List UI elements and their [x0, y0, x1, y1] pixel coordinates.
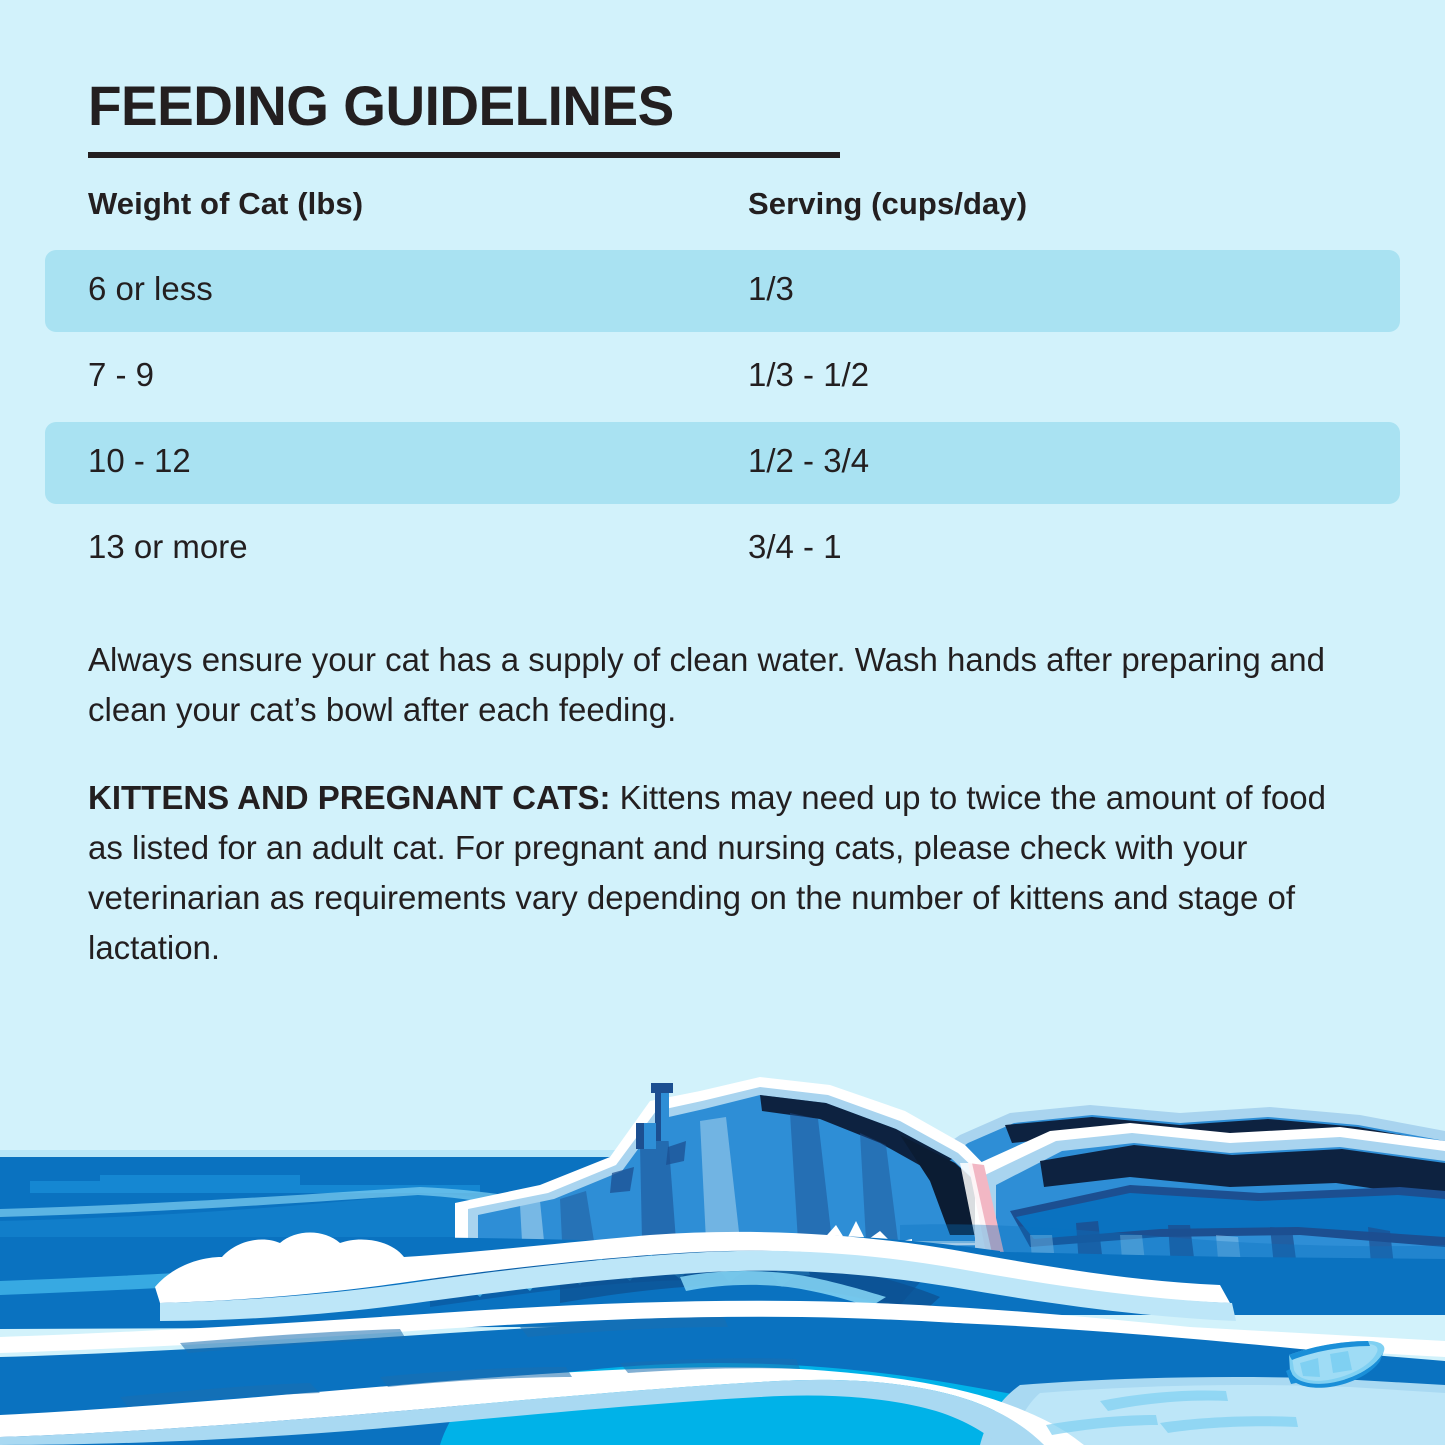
cell-serving: 3/4 - 1 [748, 528, 842, 566]
cell-weight: 6 or less [88, 270, 213, 308]
column-header-serving: Serving (cups/day) [748, 186, 1027, 222]
note-kittens-pregnant: KITTENS AND PREGNANT CATS: Kittens may n… [88, 773, 1366, 974]
cell-weight: 10 - 12 [88, 442, 191, 480]
cell-weight: 7 - 9 [88, 356, 154, 394]
cell-serving: 1/3 - 1/2 [748, 356, 869, 394]
table-row: 6 or less 1/3 [0, 248, 1445, 334]
feeding-guidelines-panel: FEEDING GUIDELINES Weight of Cat (lbs) S… [0, 0, 1445, 1445]
page-title: FEEDING GUIDELINES [88, 78, 674, 134]
column-header-weight: Weight of Cat (lbs) [88, 186, 363, 222]
feeding-table: Weight of Cat (lbs) Serving (cups/day) 6… [0, 186, 1445, 592]
table-header-row: Weight of Cat (lbs) Serving (cups/day) [0, 186, 1445, 248]
note-kittens-label: KITTENS AND PREGNANT CATS: [88, 779, 611, 816]
table-row: 10 - 12 1/2 - 3/4 [0, 420, 1445, 506]
cell-serving: 1/2 - 3/4 [748, 442, 869, 480]
cell-serving: 1/3 [748, 270, 794, 308]
table-row: 7 - 9 1/3 - 1/2 [0, 334, 1445, 420]
cell-weight: 13 or more [88, 528, 248, 566]
title-underline-rule [88, 152, 840, 158]
coastal-seascape-illustration [0, 985, 1445, 1445]
table-row: 13 or more 3/4 - 1 [0, 506, 1445, 592]
note-clean-water: Always ensure your cat has a supply of c… [88, 635, 1366, 735]
